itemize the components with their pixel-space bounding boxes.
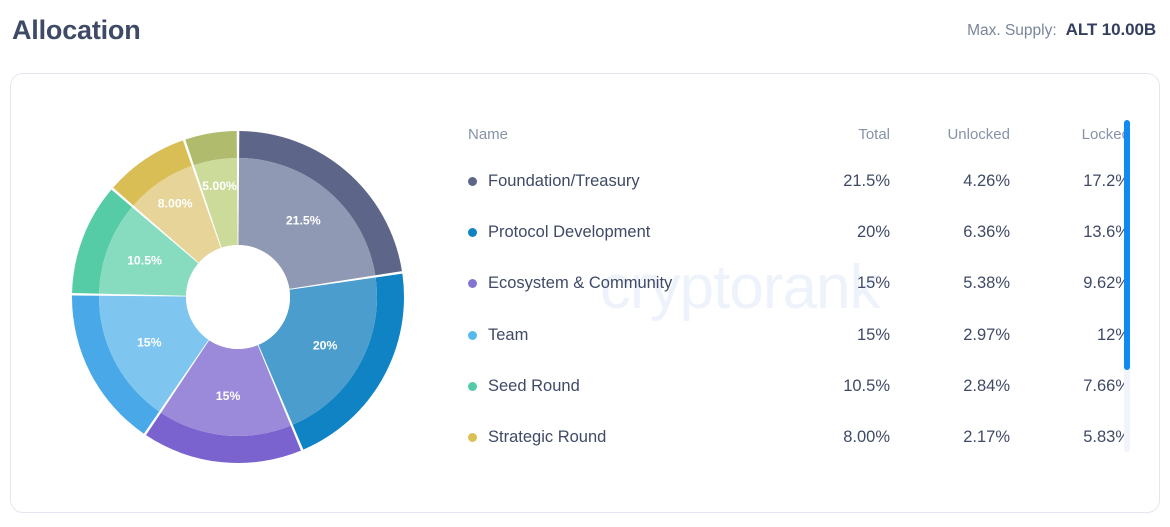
table-body: Foundation/Treasury21.5%4.26%17.2%Protoc… <box>452 156 1112 463</box>
row-unlocked-cell-value: 2.17% <box>963 428 1010 446</box>
row-locked-cell-value: 9.62% <box>1083 274 1130 292</box>
row-total-cell-value: 15% <box>857 274 890 292</box>
legend-dot-icon <box>468 279 477 288</box>
allocation-donut-chart: 21.5%20%15%15%10.5%8.00%5.00% <box>63 122 413 472</box>
row-name-label: Team <box>488 326 528 345</box>
row-name-label: Seed Round <box>488 377 580 396</box>
row-name-cell: Foundation/Treasury <box>452 172 782 191</box>
row-unlocked-cell-value: 4.26% <box>963 172 1010 190</box>
row-total-cell-value: 21.5% <box>843 172 890 190</box>
row-unlocked-cell-value: 6.36% <box>963 223 1010 241</box>
page-title: Allocation <box>12 17 141 44</box>
legend-dot-icon <box>468 331 477 340</box>
row-name-cell: Protocol Development <box>452 223 782 242</box>
row-total-cell: 8.00% <box>782 428 892 447</box>
page-header: Allocation Max. Supply: ALT 10.00B <box>0 0 1170 60</box>
row-total-cell: 21.5% <box>782 172 892 191</box>
table-header-row: Name Total Unlocked Locked <box>452 112 1112 156</box>
row-total-cell: 15% <box>782 274 892 293</box>
column-header-name: Name <box>452 126 782 143</box>
row-total-cell: 15% <box>782 326 892 345</box>
legend-dot-icon <box>468 382 477 391</box>
donut-slice-label: 10.5% <box>127 254 162 268</box>
row-locked-cell: 5.83% <box>1012 428 1132 447</box>
row-locked-cell-value: 17.2% <box>1083 172 1130 190</box>
row-unlocked-cell-value: 5.38% <box>963 274 1010 292</box>
row-total-cell: 20% <box>782 223 892 242</box>
row-unlocked-cell: 6.36% <box>892 223 1012 242</box>
legend-dot-icon <box>468 177 477 186</box>
table-row[interactable]: Seed Round10.5%2.84%7.66% <box>452 361 1112 412</box>
row-locked-cell: 17.2% <box>1012 172 1132 191</box>
row-name-label: Ecosystem & Community <box>488 274 672 293</box>
row-unlocked-cell-value: 2.97% <box>963 326 1010 344</box>
table-scrollbar-thumb[interactable] <box>1124 120 1130 370</box>
row-name-label: Foundation/Treasury <box>488 172 640 191</box>
column-header-unlocked: Unlocked <box>892 126 1012 143</box>
row-total-cell-value: 15% <box>857 326 890 344</box>
row-name-cell: Seed Round <box>452 377 782 396</box>
row-locked-cell: 9.62% <box>1012 274 1132 293</box>
donut-svg: 21.5%20%15%15%10.5%8.00%5.00% <box>63 122 413 472</box>
donut-slice-label: 15% <box>216 389 241 403</box>
row-total-cell-value: 8.00% <box>843 428 890 446</box>
column-header-locked: Locked <box>1012 126 1132 143</box>
table-row[interactable]: Foundation/Treasury21.5%4.26%17.2% <box>452 156 1112 207</box>
row-total-cell-value: 10.5% <box>843 377 890 395</box>
row-unlocked-cell: 2.97% <box>892 326 1012 345</box>
donut-center-hole <box>186 245 290 349</box>
row-locked-cell-value: 13.6% <box>1083 223 1130 241</box>
row-locked-cell: 7.66% <box>1012 377 1132 396</box>
row-total-cell-value: 20% <box>857 223 890 241</box>
row-name-label: Protocol Development <box>488 223 650 242</box>
allocation-table: Name Total Unlocked Locked Foundation/Tr… <box>452 112 1112 463</box>
donut-slice-label: 21.5% <box>286 213 321 227</box>
row-locked-cell: 13.6% <box>1012 223 1132 242</box>
column-header-total: Total <box>782 126 892 143</box>
donut-slice-label: 5.00% <box>202 179 237 193</box>
legend-dot-icon <box>468 228 477 237</box>
row-name-label: Strategic Round <box>488 428 606 447</box>
max-supply: Max. Supply: ALT 10.00B <box>967 20 1156 40</box>
row-name-cell: Team <box>452 326 782 345</box>
row-name-cell: Ecosystem & Community <box>452 274 782 293</box>
row-locked-cell-value: 7.66% <box>1083 377 1130 395</box>
row-unlocked-cell-value: 2.84% <box>963 377 1010 395</box>
table-scrollbar[interactable] <box>1124 120 1130 452</box>
row-unlocked-cell: 5.38% <box>892 274 1012 293</box>
row-locked-cell: 12% <box>1012 326 1132 345</box>
max-supply-value: ALT 10.00B <box>1066 20 1156 40</box>
donut-slice-label: 15% <box>137 335 162 349</box>
table-row[interactable]: Ecosystem & Community15%5.38%9.62% <box>452 258 1112 309</box>
table-row[interactable]: Team15%2.97%12% <box>452 310 1112 361</box>
row-unlocked-cell: 4.26% <box>892 172 1012 191</box>
donut-slice-label: 20% <box>313 338 338 352</box>
row-unlocked-cell: 2.17% <box>892 428 1012 447</box>
donut-slice-label: 8.00% <box>158 197 193 211</box>
max-supply-label: Max. Supply: <box>967 22 1057 40</box>
row-name-cell: Strategic Round <box>452 428 782 447</box>
row-locked-cell-value: 5.83% <box>1083 428 1130 446</box>
legend-dot-icon <box>468 433 477 442</box>
table-row[interactable]: Strategic Round8.00%2.17%5.83% <box>452 412 1112 463</box>
row-unlocked-cell: 2.84% <box>892 377 1012 396</box>
table-row[interactable]: Protocol Development20%6.36%13.6% <box>452 207 1112 258</box>
row-total-cell: 10.5% <box>782 377 892 396</box>
